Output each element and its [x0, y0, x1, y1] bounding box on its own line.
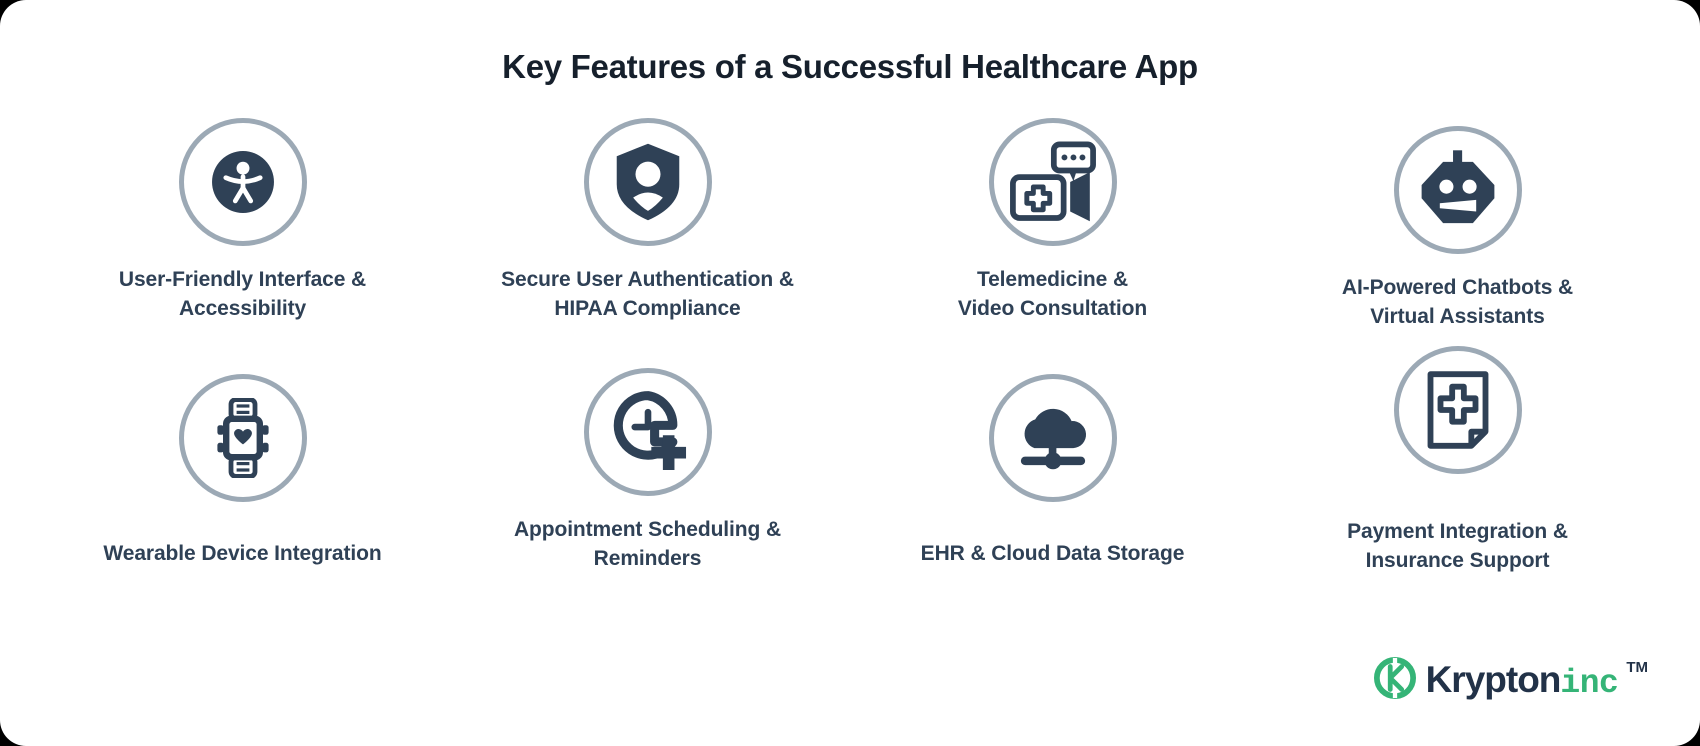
- icon-ring: [989, 118, 1117, 246]
- brand-logo[interactable]: Kryptoninc TM: [1374, 657, 1648, 704]
- feature-item-telemedicine[interactable]: Telemedicine & Video Consultation: [850, 118, 1255, 368]
- feature-label-line2: Accessibility: [119, 295, 366, 324]
- smartwatch-heart-icon: [211, 398, 275, 478]
- feature-label: Payment Integration & Insurance Support: [1347, 518, 1568, 576]
- feature-row-2: Wearable Device Integration Appointment: [40, 368, 1660, 618]
- feature-item-payment-integration[interactable]: Payment Integration & Insurance Support: [1255, 368, 1660, 618]
- feature-label-line1: Telemedicine &: [958, 266, 1147, 295]
- cloud-network-icon: [1009, 399, 1097, 477]
- icon-ring: [584, 118, 712, 246]
- feature-label: Secure User Authentication & HIPAA Compl…: [501, 266, 794, 324]
- feature-item-ai-chatbots[interactable]: AI-Powered Chatbots & Virtual Assistants: [1255, 118, 1660, 368]
- robot-chatbot-icon: [1414, 147, 1502, 233]
- feature-item-appointment-scheduling[interactable]: Appointment Scheduling & Reminders: [445, 368, 850, 618]
- feature-label-line2: Virtual Assistants: [1342, 303, 1573, 332]
- feature-label-line2: Reminders: [514, 545, 781, 574]
- icon-ring: [989, 374, 1117, 502]
- feature-label-line1: EHR & Cloud Data Storage: [921, 540, 1185, 569]
- brand-wordmark: Kryptoninc: [1426, 661, 1619, 700]
- infographic-card: Key Features of a Successful Healthcare …: [0, 0, 1700, 746]
- icon-ring: [1394, 126, 1522, 254]
- video-consultation-icon: [1008, 139, 1098, 225]
- page-title: Key Features of a Successful Healthcare …: [0, 48, 1700, 86]
- medical-document-icon: [1423, 368, 1493, 452]
- feature-label-line2: Insurance Support: [1347, 547, 1568, 576]
- feature-label-line1: Payment Integration &: [1347, 518, 1568, 547]
- feature-label-line1: Appointment Scheduling &: [514, 516, 781, 545]
- brand-trademark: TM: [1626, 659, 1648, 676]
- feature-label-line1: User-Friendly Interface &: [119, 266, 366, 295]
- krypton-k-circle-icon: [1374, 657, 1416, 704]
- icon-ring: [1394, 346, 1522, 474]
- brand-name-secondary: inc: [1560, 665, 1618, 702]
- feature-label-line1: Wearable Device Integration: [103, 540, 381, 569]
- feature-label-line1: AI-Powered Chatbots &: [1342, 274, 1573, 303]
- feature-label: Telemedicine & Video Consultation: [958, 266, 1147, 324]
- shield-user-icon: [608, 139, 688, 225]
- brand-name-primary: Krypton: [1426, 659, 1561, 700]
- feature-item-secure-authentication[interactable]: Secure User Authentication & HIPAA Compl…: [445, 118, 850, 368]
- accessibility-icon: [200, 139, 286, 225]
- feature-label: EHR & Cloud Data Storage: [921, 540, 1185, 569]
- feature-row-1: User-Friendly Interface & Accessibility: [40, 118, 1660, 368]
- feature-label: Wearable Device Integration: [103, 540, 381, 569]
- feature-item-ehr-cloud-storage[interactable]: EHR & Cloud Data Storage: [850, 368, 1255, 618]
- feature-label-line1: Secure User Authentication &: [501, 266, 794, 295]
- feature-grid: User-Friendly Interface & Accessibility: [40, 118, 1660, 618]
- feature-label-line2: Video Consultation: [958, 295, 1147, 324]
- feature-label: AI-Powered Chatbots & Virtual Assistants: [1342, 274, 1573, 332]
- feature-item-wearable-device[interactable]: Wearable Device Integration: [40, 368, 445, 618]
- feature-label: User-Friendly Interface & Accessibility: [119, 266, 366, 324]
- feature-label-line2: HIPAA Compliance: [501, 295, 794, 324]
- icon-ring: [179, 118, 307, 246]
- feature-item-user-friendly-interface[interactable]: User-Friendly Interface & Accessibility: [40, 118, 445, 368]
- icon-ring: [584, 368, 712, 496]
- icon-ring: [179, 374, 307, 502]
- feature-label: Appointment Scheduling & Reminders: [514, 516, 781, 574]
- clock-plus-icon: [605, 389, 691, 475]
